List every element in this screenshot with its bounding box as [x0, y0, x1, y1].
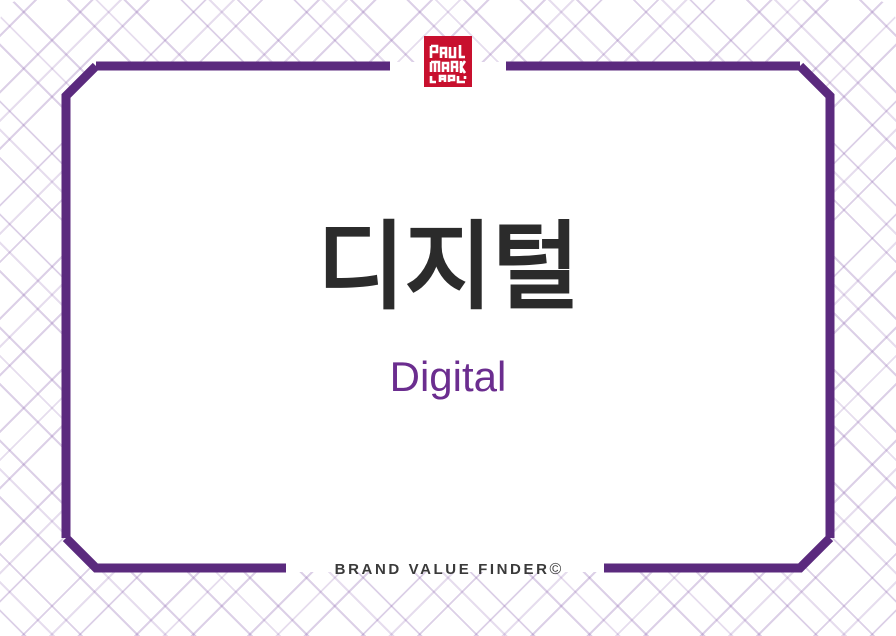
- page-title-korean: 디지털: [0, 212, 896, 322]
- copyright-icon: ©: [550, 561, 562, 578]
- footer-brand-text: BRAND VALUE FINDER: [335, 561, 550, 578]
- card-text-block: 디지털 Digital BRAND VALUE FINDER©: [0, 0, 896, 636]
- page-subtitle-english: Digital: [0, 352, 896, 402]
- brand-value-card: 디지털 Digital BRAND VALUE FINDER©: [0, 0, 896, 636]
- footer-brand-label: BRAND VALUE FINDER©: [0, 561, 896, 579]
